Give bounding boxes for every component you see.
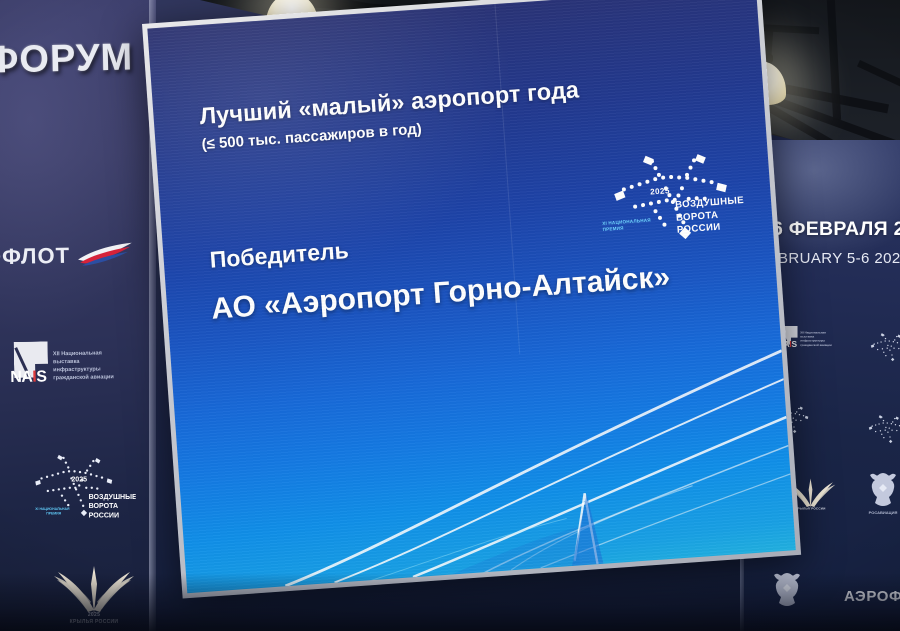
slide-award-logo: 2025 XI НАЦИОНАЛЬНАЯ ПРЕМИЯ ВОЗДУШНЫЕ ВО… bbox=[595, 139, 752, 259]
decorative-swoosh-graphic bbox=[171, 313, 796, 593]
award-year: 2025 bbox=[71, 477, 87, 484]
wings-year: 2025 bbox=[88, 612, 100, 618]
forum-wordmark: ФОРУМ bbox=[0, 36, 134, 82]
ceiling-beam bbox=[857, 60, 900, 104]
double-eagle-icon bbox=[770, 570, 804, 612]
nais-logo-left: NAIS XII Национальная выставка инфрастру… bbox=[14, 340, 128, 386]
aeroflot-wordmark: ОФЛОТ bbox=[0, 243, 70, 270]
award-star-logo-left: 2025 XI НАЦИОНАЛЬНАЯ ПРЕМИЯ ВОЗДУШНЫЕ ВО… bbox=[18, 446, 136, 539]
nais-mark-icon: NAIS bbox=[14, 341, 49, 386]
double-eagle-icon bbox=[866, 470, 900, 512]
award-name-1: ВОЗДУШНЫЕ bbox=[89, 494, 136, 501]
rosaviatsia-caption: РОСАВИАЦИЯ bbox=[858, 510, 900, 515]
wings-logo-left: 2025КРЫЛЬЯ РОССИИ bbox=[48, 562, 140, 620]
award-name-3: РОССИИ bbox=[89, 513, 119, 520]
svg-text:ПРЕМИЯ: ПРЕМИЯ bbox=[46, 511, 61, 515]
award-premia: XI НАЦИОНАЛЬНАЯ bbox=[35, 507, 70, 511]
slide-heading-block: Лучший «малый» аэропорт года (≤ 500 тыс.… bbox=[199, 69, 681, 153]
aeroflot-logo-left: ОФЛОТ bbox=[0, 242, 134, 271]
winner-name: АО «Аэропорт Горно-Алтайск» bbox=[210, 260, 671, 326]
nais-description: XII Национальная выставка инфраструктуры… bbox=[800, 326, 838, 348]
star-planes-icon bbox=[862, 412, 900, 450]
star-planes-icon: 2025 XI НАЦИОНАЛЬНАЯ ПРЕМИЯ ВОЗДУШНЫЕ ВО… bbox=[18, 446, 136, 534]
rosaviatsia-logo-1: РОСАВИАЦИЯ bbox=[866, 470, 900, 514]
award-star-logo-right-1 bbox=[864, 330, 900, 370]
rosaviatsia-logo-2 bbox=[770, 570, 804, 614]
wings-caption: КРЫЛЬЯ РОССИИ bbox=[70, 619, 119, 625]
winner-label: Победитель bbox=[209, 237, 350, 274]
star-planes-icon bbox=[864, 330, 900, 368]
nais-wordmark-tail: S bbox=[36, 368, 46, 385]
nais-logo-right: NAIS XII Национальная выставка инфрастру… bbox=[780, 326, 839, 349]
aeroflot-wing-icon bbox=[76, 242, 134, 269]
slide-award-year: 2025 bbox=[650, 186, 670, 196]
aeroflot-wordmark: АЭРОФЛОТ bbox=[844, 588, 900, 605]
award-name-2: ВОРОТА bbox=[89, 503, 118, 510]
aeroflot-logo-right: АЭРОФЛОТ bbox=[844, 588, 900, 605]
led-screen-frame: Лучший «малый» аэропорт года (≤ 500 тыс.… bbox=[142, 0, 801, 599]
nais-description: XII Национальная выставка инфраструктуры… bbox=[53, 340, 128, 383]
photo-scene: ФОРУМ ОФЛОТ NAIS XII Национальная выстав… bbox=[0, 0, 900, 631]
nais-wordmark: NA bbox=[10, 369, 32, 386]
led-screen: Лучший «малый» аэропорт года (≤ 500 тыс.… bbox=[147, 0, 795, 593]
award-star-logo-right-3 bbox=[862, 412, 900, 452]
wings-icon bbox=[48, 562, 140, 614]
